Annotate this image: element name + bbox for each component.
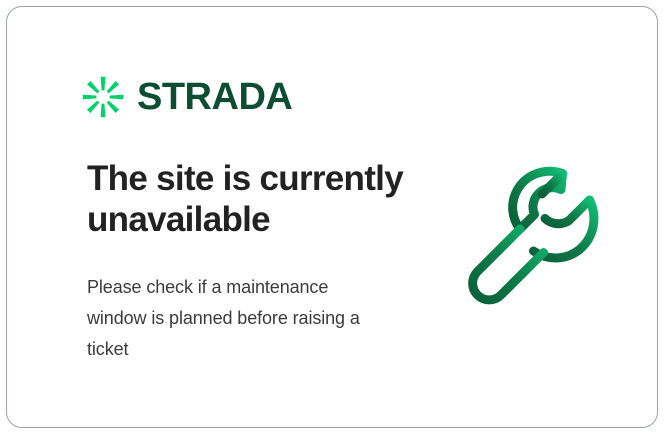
- page-root: STRADA The site is currently unavailable…: [0, 0, 666, 436]
- page-title: The site is currently unavailable: [87, 159, 427, 240]
- status-card: STRADA The site is currently unavailable…: [6, 6, 658, 428]
- wrench-illustration: [459, 157, 619, 317]
- message-block: The site is currently unavailable Please…: [87, 159, 427, 365]
- strada-asterisk-icon: [81, 75, 125, 119]
- brand-wordmark: STRADA: [137, 78, 292, 116]
- brand-lockup: STRADA: [81, 75, 292, 119]
- page-description: Please check if a maintenance window is …: [87, 240, 387, 365]
